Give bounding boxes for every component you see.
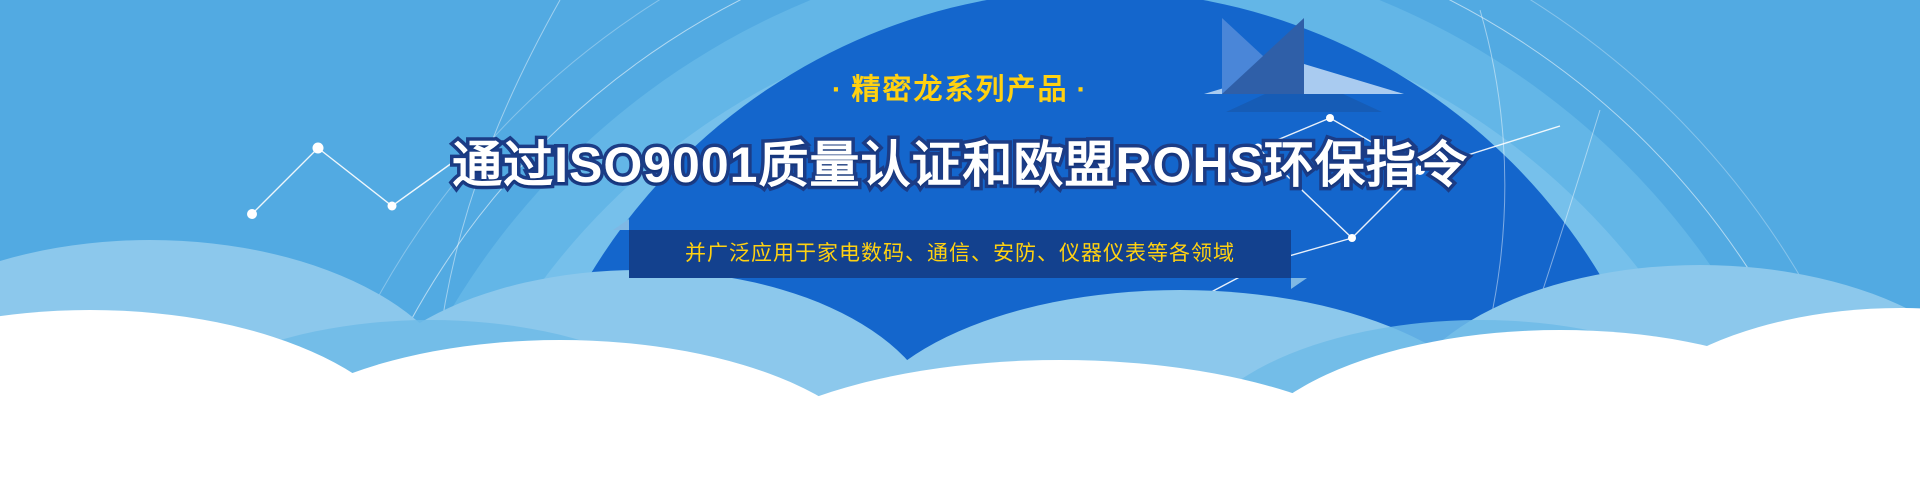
banner-text-stack: ·精密龙系列产品· 通过ISO9001质量认证和欧盟ROHS环保指令 并广泛应用… <box>0 0 1920 480</box>
ribbon-fold-left-icon <box>613 219 629 230</box>
headline-title: 通过ISO9001质量认证和欧盟ROHS环保指令 <box>452 139 1468 192</box>
eyebrow-label: 精密龙系列产品 <box>851 74 1068 106</box>
eyebrow-dot-right: · <box>1069 74 1097 106</box>
ribbon-fold-right-icon <box>1291 278 1307 289</box>
subtitle-label: 并广泛应用于家电数码、通信、安防、仪器仪表等各领域 <box>685 243 1235 264</box>
eyebrow-dot-left: · <box>824 74 852 106</box>
promo-banner: ·精密龙系列产品· 通过ISO9001质量认证和欧盟ROHS环保指令 并广泛应用… <box>0 0 1920 480</box>
subtitle-ribbon: 并广泛应用于家电数码、通信、安防、仪器仪表等各领域 <box>629 230 1291 278</box>
eyebrow-tagline: ·精密龙系列产品· <box>824 76 1096 105</box>
